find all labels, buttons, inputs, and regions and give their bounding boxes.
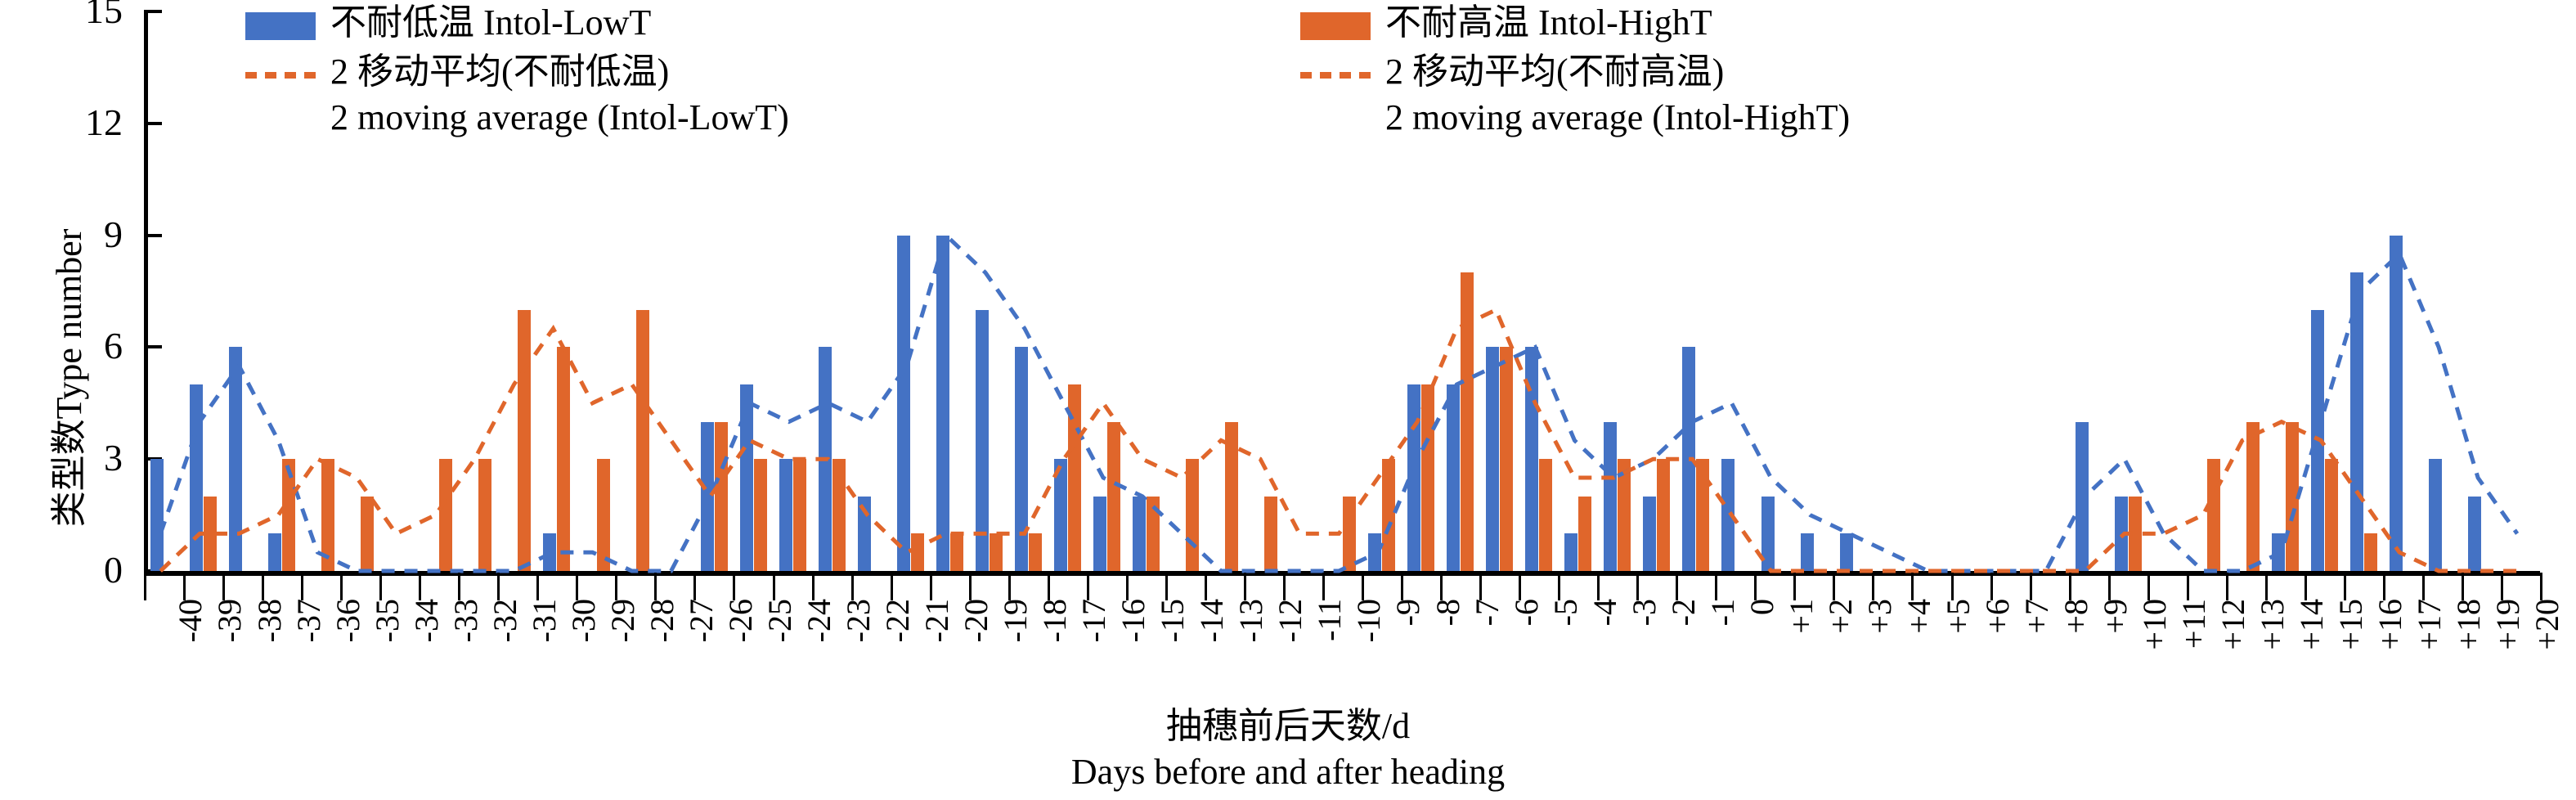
x-tick-label: -11 — [1313, 599, 1346, 705]
x-tick-label: -27 — [685, 599, 718, 705]
x-tick — [458, 573, 460, 600]
x-tick — [1833, 573, 1835, 600]
x-tick-label: +11 — [2178, 599, 2210, 705]
x-tick — [301, 573, 303, 600]
x-tick — [693, 573, 696, 600]
x-tick — [536, 573, 539, 600]
x-tick — [1205, 573, 1207, 600]
x-tick-label: +7 — [2021, 599, 2053, 705]
x-tick-label: -13 — [1235, 599, 1268, 705]
x-tick — [2422, 573, 2425, 600]
x-axis-title-en: Days before and after heading — [0, 749, 2576, 795]
x-tick — [1754, 573, 1757, 600]
x-tick — [419, 573, 421, 600]
x-tick — [2030, 573, 2032, 600]
x-tick-label: +20 — [2531, 599, 2564, 705]
x-tick-label: +1 — [1785, 599, 1818, 705]
x-tick — [262, 573, 264, 600]
x-tick-label: 0 — [1746, 599, 1779, 705]
x-tick — [1872, 573, 1874, 600]
x-tick-label: -10 — [1353, 599, 1385, 705]
x-tick-label: -32 — [489, 599, 522, 705]
x-tick — [222, 573, 225, 600]
x-tick-label: +16 — [2374, 599, 2407, 705]
x-tick-label: -2 — [1667, 599, 1700, 705]
x-tick — [2108, 573, 2111, 600]
y-tick-label: 12 — [25, 104, 123, 142]
x-tick — [615, 573, 617, 600]
x-tick-label: +5 — [1942, 599, 1975, 705]
y-tick-label: 15 — [25, 0, 123, 29]
x-tick-label: -1 — [1707, 599, 1739, 705]
trendline-ma-lowt — [160, 236, 2517, 571]
chart-root: 类型数Type number 不耐低温 Intol-LowT 不耐高温 Into… — [0, 0, 2576, 800]
x-tick-label: +10 — [2138, 599, 2171, 705]
x-tick-label: -39 — [213, 599, 246, 705]
x-tick — [2383, 573, 2385, 600]
plot-area — [144, 11, 2540, 571]
x-tick — [812, 573, 815, 600]
x-tick — [144, 573, 146, 600]
x-tick-label: +6 — [1981, 599, 2014, 705]
x-tick-label: +18 — [2453, 599, 2485, 705]
x-tick-label: -31 — [528, 599, 561, 705]
x-tick — [1676, 573, 1678, 600]
x-tick-label: -8 — [1432, 599, 1465, 705]
x-tick — [1087, 573, 1089, 600]
x-tick — [2540, 573, 2542, 600]
x-tick-label: -21 — [921, 599, 954, 705]
x-tick — [2344, 573, 2346, 600]
x-tick-label: -28 — [646, 599, 679, 705]
x-tick-label: -12 — [1274, 599, 1307, 705]
x-tick — [183, 573, 186, 600]
x-tick — [1636, 573, 1639, 600]
x-tick — [1283, 573, 1286, 600]
x-tick-label: -30 — [568, 599, 600, 705]
x-tick — [379, 573, 382, 600]
x-tick-label: +17 — [2413, 599, 2446, 705]
x-tick-label: -17 — [1078, 599, 1111, 705]
x-tick-label: +13 — [2256, 599, 2289, 705]
x-tick-label: -40 — [174, 599, 207, 705]
x-tick-label: -16 — [1117, 599, 1150, 705]
x-tick — [1990, 573, 1993, 600]
x-tick — [1793, 573, 1796, 600]
x-tick-label: -19 — [999, 599, 1032, 705]
x-tick-label: -37 — [293, 599, 325, 705]
x-tick — [851, 573, 854, 600]
x-tick — [2462, 573, 2464, 600]
x-axis-title-cn: 抽穗前后天数/d — [0, 703, 2576, 749]
x-tick — [1479, 573, 1482, 600]
x-tick — [969, 573, 972, 600]
x-tick — [2501, 573, 2503, 600]
x-tick-label: -3 — [1628, 599, 1661, 705]
x-tick-label: -33 — [450, 599, 482, 705]
x-tick-label: +3 — [1864, 599, 1896, 705]
x-tick-label: +19 — [2492, 599, 2524, 705]
x-tick — [1126, 573, 1129, 600]
x-tick-label: +8 — [2060, 599, 2093, 705]
x-tick — [1008, 573, 1011, 600]
x-tick-labels: -40-39-38-37-36-35-34-33-32-31-30-29-28-… — [144, 602, 2540, 708]
x-tick — [1362, 573, 1364, 600]
x-tick-label: -22 — [882, 599, 914, 705]
x-tick — [2265, 573, 2268, 600]
x-tick — [1519, 573, 1521, 600]
x-tick-label: +9 — [2099, 599, 2132, 705]
x-tick — [1558, 573, 1560, 600]
x-tick-label: +15 — [2335, 599, 2367, 705]
x-tick-label: -5 — [1550, 599, 1582, 705]
x-tick — [773, 573, 775, 600]
x-tick-label: -15 — [1156, 599, 1189, 705]
x-tick — [930, 573, 932, 600]
x-tick — [2226, 573, 2228, 600]
y-tick-label: 0 — [25, 551, 123, 589]
x-tick-label: -25 — [764, 599, 797, 705]
x-tick — [2304, 573, 2307, 600]
x-tick — [1244, 573, 1246, 600]
x-tick — [1715, 573, 1717, 600]
x-tick-label: -4 — [1589, 599, 1622, 705]
x-tick-label: +4 — [1903, 599, 1936, 705]
x-tick — [1322, 573, 1325, 600]
x-tick-label: -18 — [1039, 599, 1071, 705]
y-tick-label: 6 — [25, 327, 123, 365]
x-tick-label: -38 — [254, 599, 286, 705]
x-tick-label: -7 — [1471, 599, 1504, 705]
x-tick — [891, 573, 893, 600]
x-tick-label: -24 — [803, 599, 836, 705]
y-tick-label: 3 — [25, 439, 123, 477]
x-tick — [1048, 573, 1050, 600]
x-tick-label: -23 — [842, 599, 875, 705]
x-tick-label: -9 — [1392, 599, 1425, 705]
x-tick-label: +2 — [1824, 599, 1857, 705]
x-axis-title: 抽穗前后天数/d Days before and after heading — [0, 703, 2576, 795]
x-tick-label: -34 — [411, 599, 443, 705]
x-tick — [2069, 573, 2071, 600]
x-tick-label: +12 — [2217, 599, 2250, 705]
x-tick-label: -26 — [725, 599, 757, 705]
x-tick-label: -29 — [607, 599, 640, 705]
x-tick-group — [144, 573, 2540, 600]
x-tick — [576, 573, 578, 600]
x-tick-label: -35 — [371, 599, 404, 705]
x-tick-label: +14 — [2296, 599, 2328, 705]
y-tick-label: 9 — [25, 216, 123, 254]
x-tick-label: -6 — [1510, 599, 1543, 705]
x-tick — [340, 573, 343, 600]
x-tick — [1165, 573, 1168, 600]
x-tick-label: -14 — [1196, 599, 1228, 705]
x-tick — [1951, 573, 1954, 600]
x-tick — [2147, 573, 2150, 600]
x-tick — [1911, 573, 1914, 600]
x-tick — [654, 573, 657, 600]
x-tick — [2187, 573, 2189, 600]
x-tick — [733, 573, 735, 600]
x-tick — [1401, 573, 1403, 600]
x-tick-label: -20 — [960, 599, 993, 705]
x-tick-label: -36 — [332, 599, 365, 705]
x-tick — [497, 573, 500, 600]
x-tick — [1440, 573, 1443, 600]
x-tick — [1597, 573, 1600, 600]
trendline-group — [144, 11, 2540, 571]
